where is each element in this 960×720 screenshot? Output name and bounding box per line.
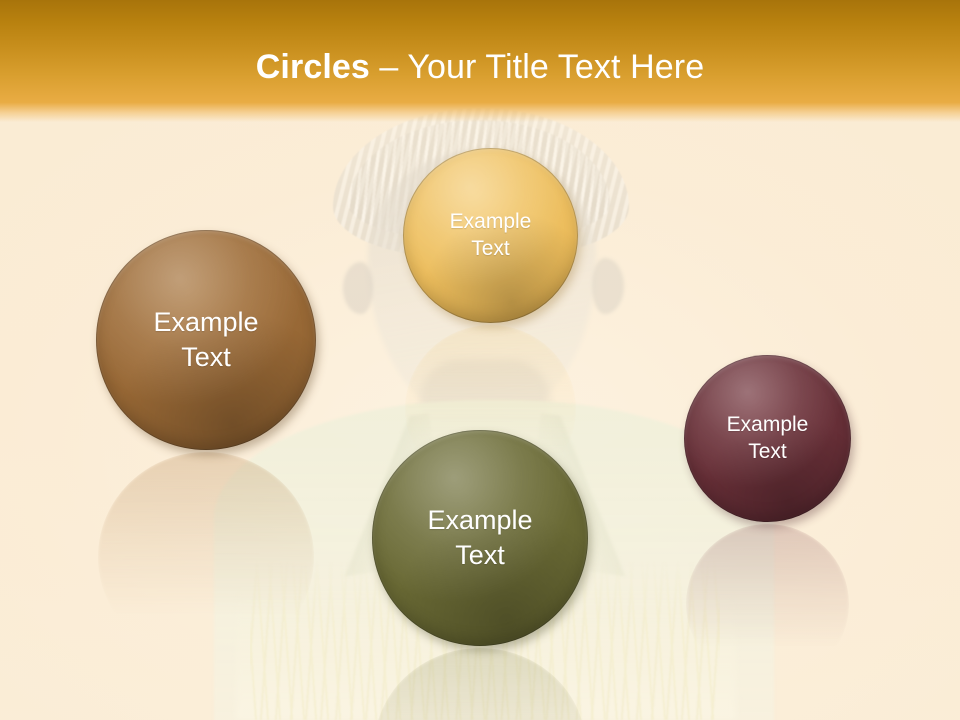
circle-brown-label: Example Text <box>139 305 272 374</box>
circle-olive-label-line1: Example <box>427 505 532 535</box>
title-bar: Circles – Your Title Text Here <box>0 0 960 122</box>
photo-ear-left <box>343 262 373 314</box>
page-title-rest: – Your Title Text Here <box>370 48 704 86</box>
circle-red-label-line1: Example <box>727 413 809 436</box>
circle-yellow-label: Example Text <box>436 209 546 263</box>
circle-yellow-label-line2: Text <box>471 237 510 260</box>
page-title: Circles – Your Title Text Here <box>0 47 960 87</box>
circle-brown-label-line2: Text <box>181 342 231 372</box>
circle-brown-label-line1: Example <box>153 307 258 337</box>
circle-red-label-line2: Text <box>748 440 787 463</box>
page-title-strong: Circles <box>256 48 370 86</box>
circle-olive-label: Example Text <box>413 503 546 572</box>
slide-canvas: Circles – Your Title Text Here Example T… <box>0 0 960 720</box>
circle-olive-label-line2: Text <box>455 540 505 570</box>
circle-yellow[interactable]: Example Text <box>403 148 578 323</box>
circle-red[interactable]: Example Text <box>684 355 851 522</box>
circle-red-label: Example Text <box>713 412 823 466</box>
circle-yellow-label-line1: Example <box>450 210 532 233</box>
circle-olive[interactable]: Example Text <box>372 430 588 646</box>
circle-brown[interactable]: Example Text <box>96 230 316 450</box>
